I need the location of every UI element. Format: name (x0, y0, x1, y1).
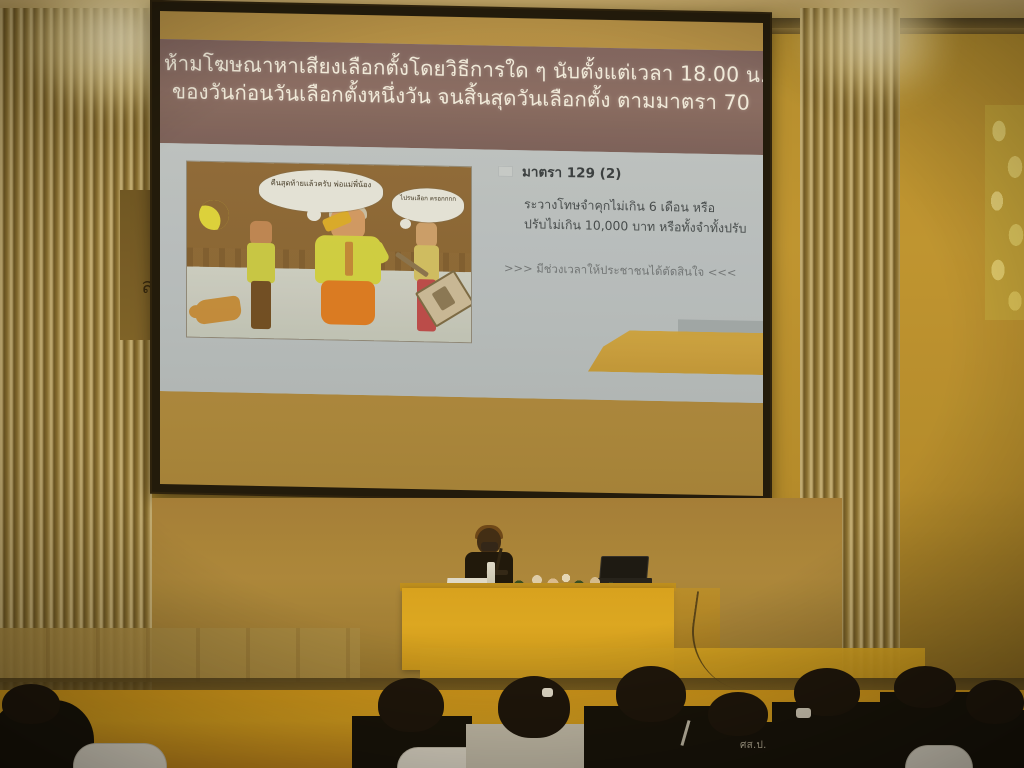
audience-member-6 (772, 702, 890, 768)
audience-head (894, 666, 956, 708)
slide-section-heading: มาตรา 129 (2) (498, 160, 760, 187)
audience-head (2, 684, 60, 724)
figure-pants (321, 280, 375, 325)
audience-head (378, 678, 444, 732)
slide-footer-note: >>> มีช่วงเวลาให้ประชาชนได้ตัดสินใจ <<< (504, 260, 760, 283)
figure-necktie (345, 242, 353, 276)
audience-chair-4 (906, 746, 972, 768)
audience-head (616, 666, 686, 722)
audience-member-3 (466, 724, 596, 768)
audience-head (498, 676, 570, 738)
figure-legs (251, 281, 271, 329)
slide-penalty-line-2: ปรับไม่เกิน 10,000 บาท หรือทั้งจำทั้งปรั… (524, 214, 760, 239)
audience-head (708, 692, 768, 736)
presenter-face-mask (481, 542, 498, 551)
curtain-left (0, 8, 152, 708)
cartoon-figure-left (243, 221, 277, 332)
crescent-moon-icon (194, 196, 233, 235)
decorative-leaf-panel (985, 105, 1024, 320)
slide-text-column: มาตรา 129 (2) ระวางโทษจำคุกไม่เกิน 6 เดื… (498, 160, 760, 283)
figure-head (250, 221, 272, 245)
projected-slide: ห้ามโฆษณาหาเสียงเลือกตั้งโดยวิธีการใด ๆ … (160, 39, 763, 403)
projection-screen-frame: ห้ามโฆษณาหาเสียงเลือกตั้งโดยวิธีการใด ๆ … (152, 2, 770, 504)
speech-bubble-1: คืนสุดท้ายแล้วครับ พ่อแม่พี่น้อง (259, 169, 383, 213)
audience-shirt-text: ศส.ป. (740, 738, 767, 753)
slide-header-band: ห้ามโฆษณาหาเสียงเลือกตั้งโดยวิธีการใด ๆ … (160, 39, 763, 155)
conference-hall-photo: ที่ สมา ห้ามโฆษณาหาเสียงเลือกตั้งโดยวิธี… (0, 0, 1024, 768)
audience-head (966, 680, 1024, 724)
cartoon-figure-center (309, 208, 387, 338)
hair-clip-icon (542, 688, 553, 697)
slide-body: คืนสุดท้ายแล้วครับ พ่อแม่พี่น้อง ไปรษเลื… (160, 143, 763, 403)
square-bullet-icon (498, 165, 513, 176)
speech-bubble-2: ไปรษเลือก ครอกกกก (392, 188, 464, 223)
audience-chair-1 (74, 744, 166, 768)
figure-head (416, 222, 437, 247)
figure-body (247, 243, 275, 284)
slide-cartoon-illustration: คืนสุดท้ายแล้วครับ พ่อแม่พี่น้อง ไปรษเลื… (187, 161, 471, 342)
projection-screen-surface: ห้ามโฆษณาหาเสียงเลือกตั้งโดยวิธีการใด ๆ … (160, 11, 763, 496)
slide-heading-text: มาตรา 129 (2) (522, 160, 621, 184)
projector-reflection-gold (588, 330, 763, 376)
wall-panel-strip (0, 628, 360, 682)
face-mask-icon (796, 708, 811, 718)
